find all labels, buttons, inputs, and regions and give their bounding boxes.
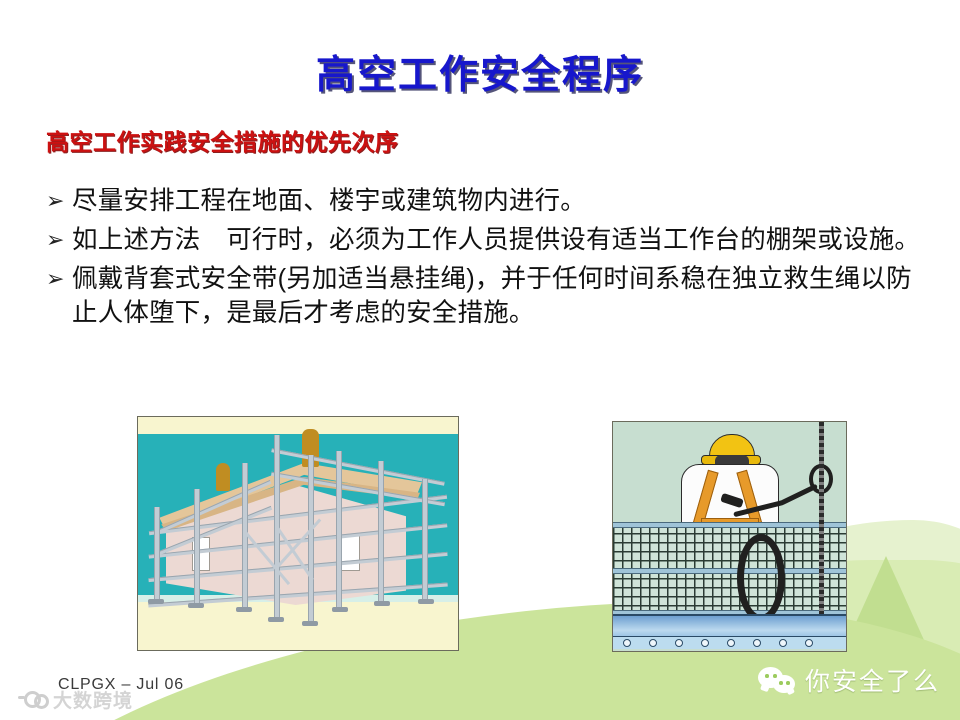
list-item: ➢ 佩戴背套式安全带(另加适当悬挂绳)，并于任何时间系稳在独立救生绳以防止人体堕… [46, 262, 926, 330]
panel-rivet [753, 639, 761, 647]
scaffold-pole [274, 435, 280, 617]
section-subtitle: 高空工作实践安全措施的优先次序 [46, 123, 399, 157]
list-item: ➢ 如上述方法 可行时，必须为工作人员提供设有适当工作台的棚架或设施。 [46, 223, 926, 257]
scaffold-pole [336, 451, 342, 607]
mesh-rail-top [613, 522, 846, 528]
list-item: ➢ 尽量安排工程在地面、楼宇或建筑物内进行。 [46, 184, 926, 218]
slide-canvas: 高空工作安全程序 高空工作实践安全措施的优先次序 ➢ 尽量安排工程在地面、楼宇或… [0, 0, 960, 720]
arrow-bullet-icon: ➢ [46, 184, 72, 218]
scaffold-pole [378, 461, 384, 601]
scaffold-base-plate [332, 607, 348, 612]
list-item-text: 如上述方法 可行时，必须为工作人员提供设有适当工作台的棚架或设施。 [72, 223, 926, 257]
panel-rivet [779, 639, 787, 647]
rope-loop [737, 534, 785, 622]
wechat-account-badge: 你安全了么 [758, 662, 940, 698]
scaffolding-illustration [137, 416, 459, 651]
bullet-list: ➢ 尽量安排工程在地面、楼宇或建筑物内进行。 ➢ 如上述方法 可行时，必须为工作… [46, 184, 926, 335]
panel-rivet [675, 639, 683, 647]
page-title: 高空工作安全程序 [0, 44, 960, 100]
door-opening [340, 535, 360, 571]
list-item-text: 尽量安排工程在地面、楼宇或建筑物内进行。 [72, 184, 926, 218]
scaffold-pole [194, 489, 200, 605]
panel-rivet [727, 639, 735, 647]
watermark: 大数跨境 [18, 686, 133, 713]
wechat-account-name: 你安全了么 [805, 662, 940, 698]
scaffold-base-plate [302, 621, 318, 626]
scaffold-base-plate [188, 603, 204, 608]
scaffold-base-plate [148, 599, 164, 604]
tree-trunk-shape [881, 638, 890, 660]
scaffold-base-plate [236, 607, 252, 612]
mesh-rail-mid [613, 568, 846, 574]
safety-harness-illustration [612, 421, 847, 652]
worker-figure [216, 463, 230, 491]
sky-band [138, 417, 458, 434]
arrow-bullet-icon: ➢ [46, 262, 72, 296]
dashujuakuajing-logo-icon [18, 690, 48, 709]
arrow-bullet-icon: ➢ [46, 223, 72, 257]
scaffold-pole [308, 455, 314, 621]
panel-rivet [623, 639, 631, 647]
list-item-text: 佩戴背套式安全带(另加适当悬挂绳)，并于任何时间系稳在独立救生绳以防止人体堕下，… [72, 262, 926, 330]
scaffold-pole [422, 479, 428, 603]
ground-band [138, 602, 458, 650]
watermark-label: 大数跨境 [53, 686, 133, 713]
panel-rivet [805, 639, 813, 647]
scaffold-base-plate [268, 617, 284, 622]
wechat-icon [758, 667, 796, 693]
panel-rivet [649, 639, 657, 647]
scaffold-base-plate [374, 601, 390, 606]
tree-icon [848, 556, 924, 640]
scaffold-base-plate [418, 599, 434, 604]
panel-rivet [701, 639, 709, 647]
scaffold-pole [154, 507, 160, 603]
